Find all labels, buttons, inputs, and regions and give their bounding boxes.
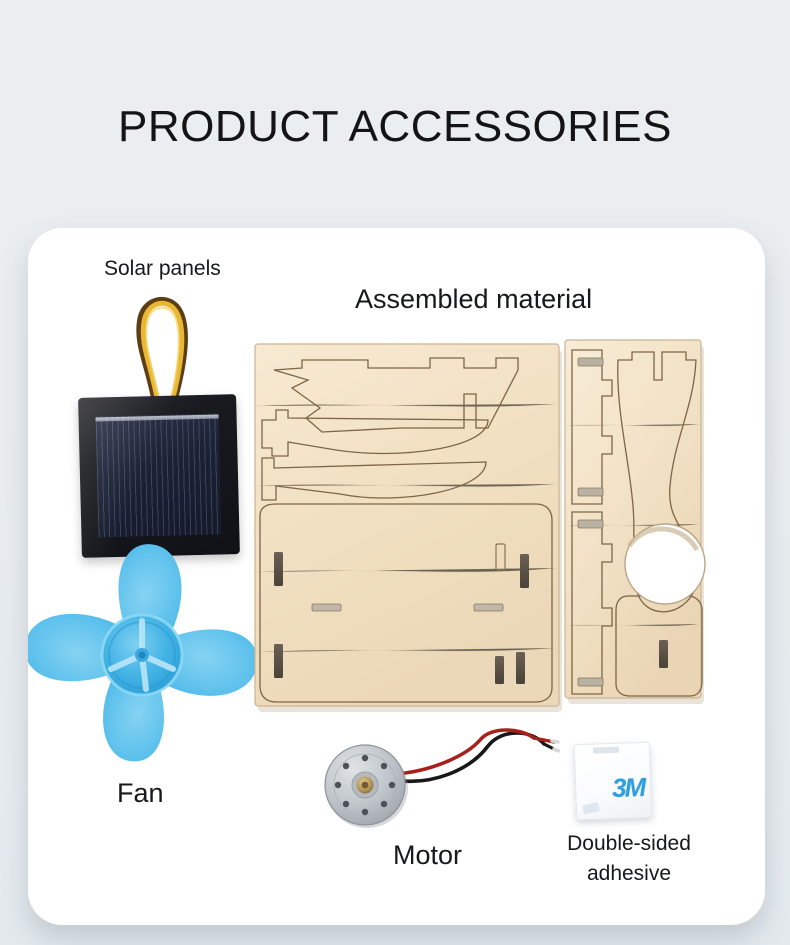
solar-panel-wire-icon xyxy=(130,291,196,409)
solar-panel-body xyxy=(78,394,240,558)
motor-item xyxy=(320,728,560,840)
label-solar-panels: Solar panels xyxy=(104,255,221,283)
adhesive-liner-tab-top xyxy=(593,747,619,754)
adhesive-pad: 3M xyxy=(574,742,653,821)
brand-logo-3m: 3M xyxy=(612,774,645,801)
assembled-material-item xyxy=(250,336,708,724)
fan-hub xyxy=(102,615,182,695)
plywood-board-right xyxy=(565,340,705,704)
fan-item xyxy=(28,541,256,769)
adhesive-liner-tab-bottom xyxy=(582,802,600,815)
label-double-sided-adhesive: Double-sided adhesive xyxy=(534,829,724,889)
solar-cell-grid xyxy=(96,414,222,538)
motor-body xyxy=(325,745,408,828)
page-title: PRODUCT ACCESSORIES xyxy=(0,99,790,155)
label-fan: Fan xyxy=(117,779,164,807)
accessories-card: Solar panels Assembled material Fan Moto… xyxy=(28,228,765,925)
label-motor: Motor xyxy=(393,841,462,869)
plywood-board-left xyxy=(255,344,562,712)
circular-cutout xyxy=(625,524,705,604)
label-assembled-material: Assembled material xyxy=(355,285,592,313)
adhesive-item: 3M xyxy=(571,737,659,825)
motor-wires xyxy=(394,730,559,781)
